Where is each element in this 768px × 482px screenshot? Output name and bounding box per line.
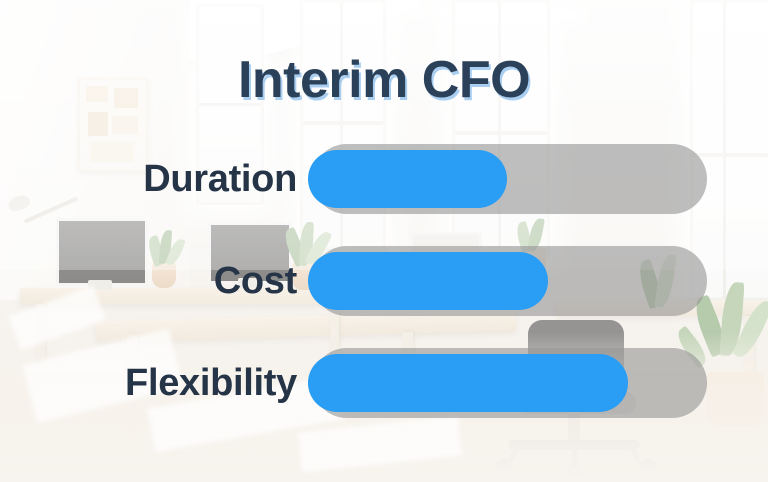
bar-row: Duration: [0, 143, 768, 215]
bar-fill-cost: [308, 252, 548, 310]
bar-fill-duration: [308, 150, 507, 208]
bar-row: Flexibility: [0, 347, 768, 419]
page-title: Interim CFO: [0, 50, 768, 110]
bar-fill-flexibility: [308, 354, 628, 412]
chart-content: Interim CFO Duration Cost Flexibility: [0, 0, 768, 482]
bar-row: Cost: [0, 245, 768, 317]
bar-label-flexibility: Flexibility: [0, 347, 297, 419]
infographic-canvas: Interim CFO Duration Cost Flexibility: [0, 0, 768, 482]
bar-label-duration: Duration: [0, 143, 297, 215]
bar-label-cost: Cost: [0, 245, 297, 317]
